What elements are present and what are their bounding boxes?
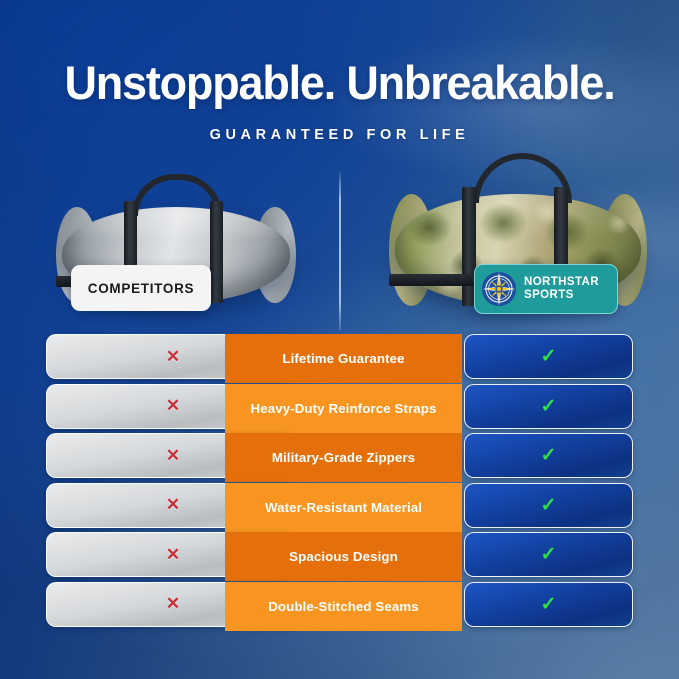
column-divider xyxy=(339,172,341,330)
page-title: Unstoppable. Unbreakable. xyxy=(0,59,679,107)
table-row: ✕✓Spacious Design xyxy=(0,532,679,577)
feature-label: Double-Stitched Seams xyxy=(225,582,462,631)
check-icon: ✓ xyxy=(541,446,557,465)
cross-icon: ✕ xyxy=(166,545,180,565)
check-icon: ✓ xyxy=(541,347,557,366)
brand-name-line1: NORTHSTAR xyxy=(524,276,599,288)
northstar-cell: ✓ xyxy=(464,582,633,627)
comparison-table: ✕✓Lifetime Guarantee✕✓Heavy-Duty Reinfor… xyxy=(0,334,679,632)
bag-handle xyxy=(132,174,222,216)
page-subtitle: GUARANTEED FOR LIFE xyxy=(0,127,679,143)
table-row: ✕✓Lifetime Guarantee xyxy=(0,334,679,379)
table-row: ✕✓Double-Stitched Seams xyxy=(0,582,679,627)
feature-label: Lifetime Guarantee xyxy=(225,334,462,383)
northstar-brand-badge: NORTHSTAR SPORTS xyxy=(474,264,618,314)
northstar-cell: ✓ xyxy=(464,384,633,429)
brand-name: NORTHSTAR SPORTS xyxy=(524,276,599,302)
compass-star-logo-icon xyxy=(481,271,517,307)
cross-icon: ✕ xyxy=(166,446,180,466)
northstar-cell: ✓ xyxy=(464,483,633,528)
bag-strap-right xyxy=(210,201,223,303)
table-row: ✕✓Water-Resistant Material xyxy=(0,483,679,528)
feature-label: Heavy-Duty Reinforce Straps xyxy=(225,384,462,433)
check-icon: ✓ xyxy=(541,496,557,515)
cross-icon: ✕ xyxy=(166,347,180,367)
cross-icon: ✕ xyxy=(166,396,180,416)
check-icon: ✓ xyxy=(541,545,557,564)
cross-icon: ✕ xyxy=(166,495,180,515)
table-row: ✕✓Heavy-Duty Reinforce Straps xyxy=(0,384,679,429)
promo-comparison-graphic: Unstoppable. Unbreakable. GUARANTEED FOR… xyxy=(0,0,679,679)
northstar-cell: ✓ xyxy=(464,532,633,577)
table-row: ✕✓Military-Grade Zippers xyxy=(0,433,679,478)
feature-label: Military-Grade Zippers xyxy=(225,433,462,482)
feature-label: Water-Resistant Material xyxy=(225,483,462,532)
competitors-label: COMPETITORS xyxy=(71,265,211,311)
feature-label: Spacious Design xyxy=(225,532,462,581)
check-icon: ✓ xyxy=(541,595,557,614)
northstar-cell: ✓ xyxy=(464,334,633,379)
northstar-cell: ✓ xyxy=(464,433,633,478)
check-icon: ✓ xyxy=(541,397,557,416)
cross-icon: ✕ xyxy=(166,594,180,614)
brand-name-line2: SPORTS xyxy=(524,289,574,301)
